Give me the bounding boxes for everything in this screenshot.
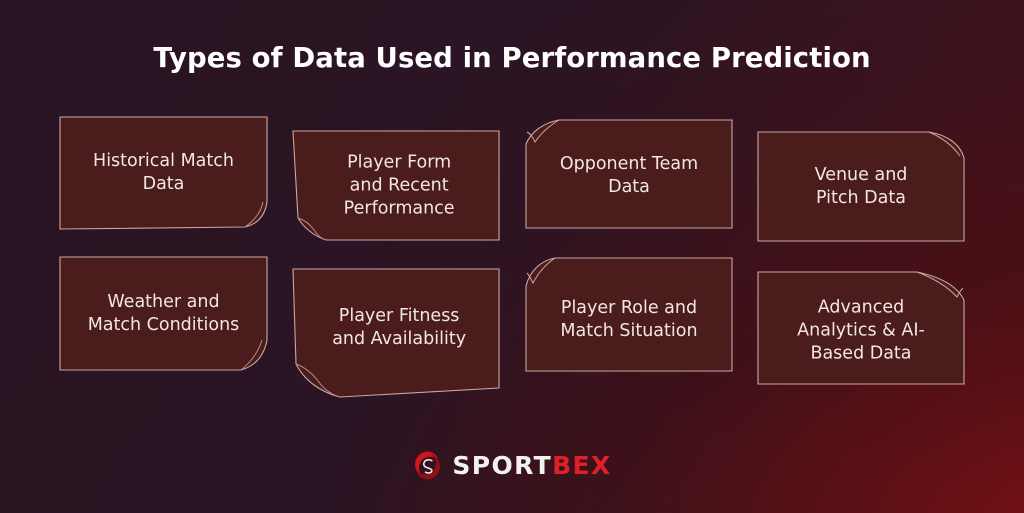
sportbex-wordmark: SPORTBEX [452,453,611,478]
sportbex-swoosh-icon [412,450,443,481]
card-label: Player Form and Recent Performance [311,151,488,220]
card-player-fitness-availability[interactable]: Player Fitness and Availability [292,268,500,398]
card-advanced-analytics-ai-data[interactable]: Advanced Analytics & AI- Based Data [757,268,965,385]
card-label: Historical Match Data [74,150,254,196]
logo-text-accent: BEX [552,451,612,480]
infographic-canvas: Types of Data Used in Performance Predic… [0,0,1024,513]
page-title-container: Types of Data Used in Performance Predic… [0,24,1024,93]
page-title: Types of Data Used in Performance Predic… [153,42,870,74]
logo-text-primary: SPORT [452,451,552,480]
card-player-form-recent-performance[interactable]: Player Form and Recent Performance [292,130,500,241]
card-label: Venue and Pitch Data [772,164,951,210]
card-label: Player Fitness and Availability [311,305,488,351]
sportbex-logo[interactable]: SPORTBEX [0,450,1024,481]
card-label: Weather and Match Conditions [74,291,254,337]
card-venue-and-pitch-data[interactable]: Venue and Pitch Data [757,128,965,242]
card-label: Opponent Team Data [540,153,719,199]
card-historical-match-data[interactable]: Historical Match Data [59,116,268,230]
card-player-role-match-situation[interactable]: Player Role and Match Situation [525,256,733,372]
card-opponent-team-data[interactable]: Opponent Team Data [525,118,733,229]
card-label: Player Role and Match Situation [540,297,719,343]
card-weather-and-match-conditions[interactable]: Weather and Match Conditions [59,256,268,372]
card-label: Advanced Analytics & AI- Based Data [772,297,951,366]
